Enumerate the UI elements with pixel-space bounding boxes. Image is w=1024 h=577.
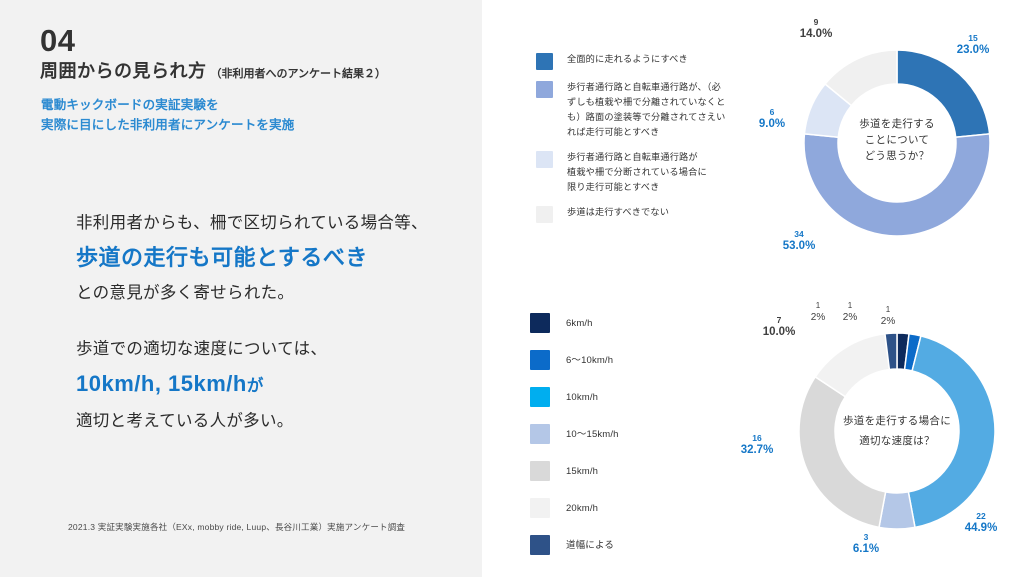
legend-item[interactable]: 6km/h <box>530 313 710 333</box>
legend-swatch-icon <box>536 53 553 70</box>
body-highlight-1: 歩道の走行も可能とするべき <box>76 238 466 278</box>
chart-1-donut: 歩道を走行する ことについて どう思うか？ 15 23.0% 34 53.0% … <box>772 10 1022 270</box>
legend-item-label: 15km/h <box>566 465 598 478</box>
legend-item[interactable]: 全面的に走れるようにすべき <box>536 52 751 70</box>
chart-2-legend: 6km/h6〜10km/h10km/h10〜15km/h15km/h20km/h… <box>530 313 710 572</box>
chart-2-label-2: 22 44.9% <box>948 510 1014 534</box>
donut-segment[interactable] <box>908 336 995 527</box>
legend-swatch-icon <box>530 535 550 555</box>
chart-2-donut: 歩道を走行する場合に 適切な速度は？ 1 2% 1 2% 22 44.9% 3 <box>772 298 1022 563</box>
legend-item[interactable]: 歩道は走行すべきでない <box>536 205 751 223</box>
legend-item-label: 10km/h <box>566 391 598 404</box>
legend-swatch-icon <box>530 313 550 333</box>
legend-item[interactable]: 道幅による <box>530 535 710 555</box>
section-number: 04 <box>40 25 75 56</box>
legend-swatch-icon <box>530 350 550 370</box>
chart-1-label-1-count: 34 <box>764 228 834 240</box>
chart-2-label-3-count: 3 <box>836 531 896 543</box>
chart-2-label-4: 16 32.7% <box>724 432 790 456</box>
chart-2-label-4-percent: 32.7% <box>724 444 790 456</box>
footnote: 2021.3 実証実験実施各社（EXx, mobby ride, Luup、長谷… <box>68 521 405 533</box>
body-line-3: 歩道での適切な速度については、 <box>76 334 466 364</box>
chart-1-label-0-percent: 23.0% <box>938 44 1008 56</box>
donut-segment[interactable] <box>804 134 990 236</box>
legend-item-label: 10〜15km/h <box>566 428 619 441</box>
lead-text: 電動キックボードの実証実験を 実際に目にした非利用者にアンケートを実施 <box>41 95 295 135</box>
legend-swatch-icon <box>530 424 550 444</box>
chart-2-label-6: 1 2% <box>868 304 908 328</box>
chart-1: 全面的に走れるようにすべき歩行者通行路と自転車通行路が、（必ずしも植栽や柵で分離… <box>482 0 1024 290</box>
lead-line-1: 電動キックボードの実証実験を <box>41 95 295 115</box>
chart-2-label-1-count: 1 <box>830 300 870 312</box>
donut-segment[interactable] <box>897 50 990 137</box>
body-highlight-2-text: 10km/h, 15km/h <box>76 371 247 396</box>
lead-line-2: 実際に目にした非利用者にアンケートを実施 <box>41 115 295 135</box>
legend-item[interactable]: 歩行者通行路と自転車通行路が植栽や柵で分断されている場合に限り走行可能とすべき <box>536 150 751 195</box>
chart-2-label-3-percent: 6.1% <box>836 543 896 555</box>
legend-item-label: 6〜10km/h <box>566 354 613 367</box>
chart-2: 6km/h6〜10km/h10km/h10〜15km/h15km/h20km/h… <box>482 290 1024 577</box>
right-panel: 全面的に走れるようにすべき歩行者通行路と自転車通行路が、（必ずしも植栽や柵で分離… <box>482 0 1024 577</box>
chart-1-label-1-percent: 53.0% <box>764 240 834 252</box>
page-title-main: 周囲からの見られ方 <box>40 57 207 83</box>
body-text: 非利用者からも、柵で区切られている場合等、 歩道の走行も可能とするべき との意見… <box>76 208 466 436</box>
legend-item[interactable]: 10km/h <box>530 387 710 407</box>
legend-item-label: 6km/h <box>566 317 593 330</box>
chart-2-label-2-percent: 44.9% <box>948 522 1014 534</box>
legend-item[interactable]: 20km/h <box>530 498 710 518</box>
body-highlight-2-tail: が <box>247 377 264 395</box>
legend-swatch-icon <box>536 151 553 168</box>
legend-item-label: 20km/h <box>566 502 598 515</box>
chart-1-label-3-percent: 14.0% <box>786 28 846 40</box>
legend-item[interactable]: 15km/h <box>530 461 710 481</box>
chart-1-label-2: 6 9.0% <box>742 106 802 130</box>
legend-item[interactable]: 10〜15km/h <box>530 424 710 444</box>
chart-2-label-6-percent: 2% <box>868 316 908 328</box>
chart-2-label-1: 1 2% <box>830 300 870 324</box>
donut-segment[interactable] <box>799 377 886 527</box>
chart-2-label-5-count: 7 <box>748 314 810 326</box>
legend-swatch-icon <box>530 498 550 518</box>
legend-item-label: 歩行者通行路と自転車通行路が、（必ずしも植栽や柵で分離されていなくとも）路面の塗… <box>567 80 725 140</box>
body-highlight-2: 10km/h, 15km/hが <box>76 364 466 406</box>
chart-1-label-0-count: 15 <box>938 32 1008 44</box>
body-line-2: との意見が多く寄せられた。 <box>76 278 466 308</box>
chart-1-label-2-percent: 9.0% <box>742 118 802 130</box>
body-line-4: 適切と考えている人が多い。 <box>76 406 466 436</box>
page-title: 周囲からの見られ方 （非利用者へのアンケート結果２） <box>40 57 386 83</box>
chart-1-label-3-count: 9 <box>786 16 846 28</box>
chart-2-label-5-percent: 10.0% <box>748 326 810 338</box>
legend-swatch-icon <box>530 461 550 481</box>
legend-swatch-icon <box>536 206 553 223</box>
legend-item-label: 道幅による <box>566 539 614 552</box>
left-panel: 04 周囲からの見られ方 （非利用者へのアンケート結果２） 電動キックボードの実… <box>0 0 482 577</box>
chart-1-label-0: 15 23.0% <box>938 32 1008 56</box>
legend-swatch-icon <box>530 387 550 407</box>
chart-1-legend: 全面的に走れるようにすべき歩行者通行路と自転車通行路が、（必ずしも植栽や柵で分離… <box>536 52 751 233</box>
chart-2-label-6-count: 1 <box>868 304 908 316</box>
chart-2-label-4-count: 16 <box>724 432 790 444</box>
body-spacer <box>76 308 466 334</box>
legend-swatch-icon <box>536 81 553 98</box>
chart-1-label-3: 9 14.0% <box>786 16 846 40</box>
chart-2-label-1-percent: 2% <box>830 312 870 324</box>
legend-item[interactable]: 6〜10km/h <box>530 350 710 370</box>
body-line-1: 非利用者からも、柵で区切られている場合等、 <box>76 208 466 238</box>
chart-2-label-2-count: 22 <box>948 510 1014 522</box>
chart-2-label-3: 3 6.1% <box>836 531 896 555</box>
legend-item-label: 歩行者通行路と自転車通行路が植栽や柵で分断されている場合に限り走行可能とすべき <box>567 150 707 195</box>
chart-2-label-5: 7 10.0% <box>748 314 810 338</box>
page-title-sub: （非利用者へのアンケート結果２） <box>211 65 387 81</box>
slide: 04 周囲からの見られ方 （非利用者へのアンケート結果２） 電動キックボードの実… <box>0 0 1024 577</box>
chart-1-label-2-count: 6 <box>742 106 802 118</box>
legend-item[interactable]: 歩行者通行路と自転車通行路が、（必ずしも植栽や柵で分離されていなくとも）路面の塗… <box>536 80 751 140</box>
legend-item-label: 歩道は走行すべきでない <box>567 205 669 220</box>
chart-1-label-1: 34 53.0% <box>764 228 834 252</box>
legend-item-label: 全面的に走れるようにすべき <box>567 52 688 67</box>
